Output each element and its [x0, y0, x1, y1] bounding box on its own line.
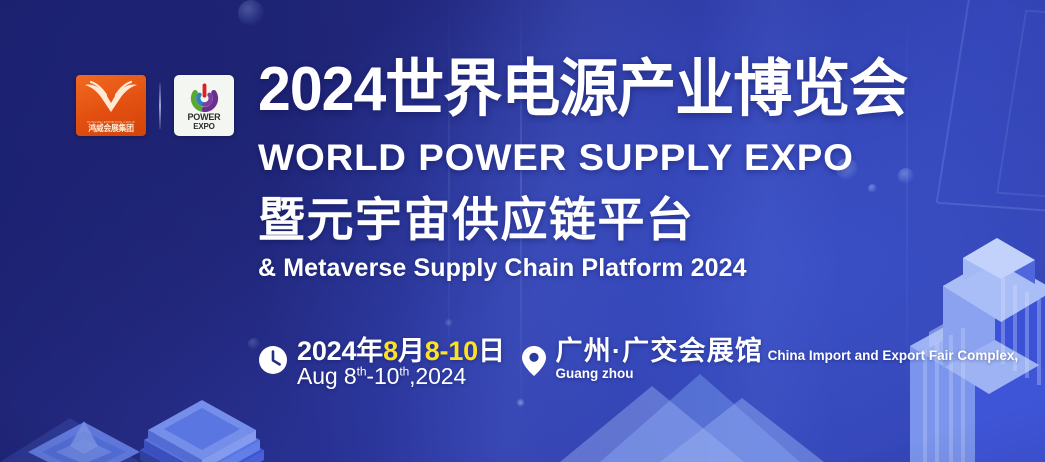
power-expo-line2: EXPO: [187, 123, 220, 131]
hongwei-logo-chinese: 鸿威会展集团: [79, 122, 143, 134]
date-sup-2: th: [399, 364, 409, 378]
date-month-highlight: 8: [383, 336, 398, 366]
date-sup-1: th: [357, 364, 367, 378]
event-info-row: 2024年8月8-10日 Aug 8th-10th,2024 广州·广交会展馆 …: [258, 338, 1045, 388]
map-pin-icon: [521, 345, 547, 382]
page-title-chinese: 2024世界电源产业博览会: [258, 58, 907, 121]
event-banner: HONGWEI EXHIBITION GROUP 鸿威会展集团 POWER EX…: [0, 0, 1045, 462]
subtitle-chinese: 暨元宇宙供应链平台: [258, 196, 695, 243]
subtitle-english: & Metaverse Supply Chain Platform 2024: [258, 256, 747, 281]
clock-icon: [258, 345, 288, 380]
event-date-english: Aug 8th-10th,2024: [297, 363, 466, 389]
power-swirl-mark: [188, 82, 221, 112]
hongwei-exhibition-group-logo[interactable]: HONGWEI EXHIBITION GROUP 鸿威会展集团: [76, 75, 146, 136]
event-date-block: 2024年8月8-10日 Aug 8th-10th,2024: [258, 338, 521, 388]
date-days-highlight: 8-10: [425, 336, 478, 366]
event-venue-chinese: 广州·广交会展馆: [556, 336, 764, 366]
event-venue-block: 广州·广交会展馆 China Import and Export Fair Co…: [521, 338, 1045, 382]
event-date-chinese: 2024年8月8-10日: [297, 336, 505, 366]
power-expo-logo[interactable]: POWER EXPO: [174, 75, 234, 136]
logo-lockup: HONGWEI EXHIBITION GROUP 鸿威会展集团 POWER EX…: [76, 75, 234, 136]
logo-divider: [159, 83, 161, 129]
page-title-english: WORLD POWER SUPPLY EXPO: [258, 139, 854, 176]
hongwei-wings-mark: [83, 80, 139, 114]
